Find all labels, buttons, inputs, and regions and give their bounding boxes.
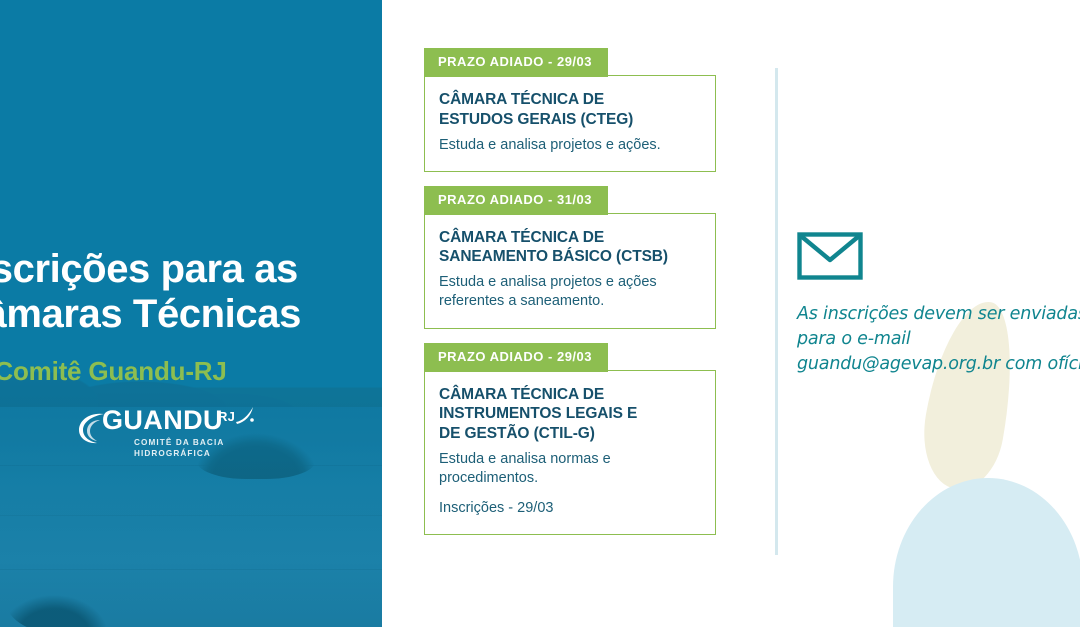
chamber-card[interactable]: PRAZO ADIADO - 31/03 CÂMARA TÉCNICA DE S… xyxy=(424,186,716,329)
chamber-title: CÂMARA TÉCNICA DE INSTRUMENTOS LEGAIS E … xyxy=(439,385,699,444)
contact-instructions: As inscrições devem ser enviadas para o … xyxy=(797,302,1080,378)
chamber-card-body: CÂMARA TÉCNICA DE SANEAMENTO BÁSICO (CTS… xyxy=(424,213,716,329)
logo-wordmark: GUANDU xyxy=(102,407,223,434)
chamber-description: Estuda e analisa normas e procedimentos. xyxy=(439,450,699,488)
logo-subtitle: COMITÊ DA BACIA HIDROGRÁFICA xyxy=(134,437,224,459)
chamber-title-line-1: CÂMARA TÉCNICA DE xyxy=(439,228,699,248)
chamber-description-line-1: Estuda e analisa projetos e ações xyxy=(439,274,657,290)
page-title: Inscrições para as Câmaras Técnicas xyxy=(0,247,382,337)
chamber-description-line-1: Estuda e analisa normas e xyxy=(439,451,611,467)
contact-line-2: para o e-mail xyxy=(797,327,1080,352)
hero-panel: Inscrições para as Câmaras Técnicas do C… xyxy=(0,0,382,627)
contact-line-1: As inscrições devem ser enviadas xyxy=(797,302,1080,327)
chamber-card[interactable]: PRAZO ADIADO - 29/03 CÂMARA TÉCNICA DE I… xyxy=(424,343,716,536)
chamber-title-line-2: SANEAMENTO BÁSICO (CTSB) xyxy=(439,247,699,267)
poster-canvas: Inscrições para as Câmaras Técnicas do C… xyxy=(0,0,1080,627)
page-title-line-1: Inscrições para as xyxy=(0,247,382,292)
chamber-title-line-1: CÂMARA TÉCNICA DE xyxy=(439,90,699,110)
chamber-card-body: CÂMARA TÉCNICA DE ESTUDOS GERAIS (CTEG) … xyxy=(424,75,716,172)
status-badge: PRAZO ADIADO - 29/03 xyxy=(424,48,608,77)
chamber-description-line-2: referentes a saneamento. xyxy=(439,293,604,309)
logo-subtitle-line-1: COMITÊ DA BACIA xyxy=(134,437,224,448)
chamber-title-line-1: CÂMARA TÉCNICA DE xyxy=(439,385,699,405)
logo-droplet-icon xyxy=(234,405,256,425)
page-title-line-2: Câmaras Técnicas xyxy=(0,292,382,337)
chamber-title-line-2: ESTUDOS GERAIS (CTEG) xyxy=(439,110,699,130)
page-subtitle: do Comitê Guandu-RJ xyxy=(0,356,382,387)
chamber-card[interactable]: PRAZO ADIADO - 29/03 CÂMARA TÉCNICA DE E… xyxy=(424,48,716,172)
chamber-card-body: CÂMARA TÉCNICA DE INSTRUMENTOS LEGAIS E … xyxy=(424,370,716,536)
chamber-description-line-2: procedimentos. xyxy=(439,470,538,486)
chamber-description: Estuda e analisa projetos e ações refere… xyxy=(439,273,699,311)
status-badge: PRAZO ADIADO - 29/03 xyxy=(424,343,608,372)
vertical-divider xyxy=(775,68,778,555)
chamber-title: CÂMARA TÉCNICA DE SANEAMENTO BÁSICO (CTS… xyxy=(439,228,699,268)
chamber-description: Estuda e analisa projetos e ações. xyxy=(439,136,699,155)
contact-block: As inscrições devem ser enviadas para o … xyxy=(797,232,1080,378)
hero-content: Inscrições para as Câmaras Técnicas do C… xyxy=(0,0,382,627)
decorative-blue-shape xyxy=(893,478,1080,627)
logo-superscript-rj: RJ xyxy=(218,409,235,424)
chamber-title-line-2: INSTRUMENTOS LEGAIS E xyxy=(439,404,699,424)
guandu-logo: GUANDU RJ COMITÊ DA BACIA HIDROGRÁFICA xyxy=(76,407,256,465)
chamber-title-line-3: DE GESTÃO (CTIL-G) xyxy=(439,424,699,444)
contact-line-3-email: guandu@agevap.org.br com ofíci xyxy=(797,352,1080,377)
envelope-icon xyxy=(797,232,863,280)
chamber-description-line-1: Estuda e analisa projetos e ações. xyxy=(439,137,661,153)
chamber-title: CÂMARA TÉCNICA DE ESTUDOS GERAIS (CTEG) xyxy=(439,90,699,130)
chamber-card-list: PRAZO ADIADO - 29/03 CÂMARA TÉCNICA DE E… xyxy=(424,48,716,535)
status-badge: PRAZO ADIADO - 31/03 xyxy=(424,186,608,215)
chamber-enrollment-deadline: Inscrições - 29/03 xyxy=(439,499,699,518)
logo-subtitle-line-2: HIDROGRÁFICA xyxy=(134,448,224,459)
